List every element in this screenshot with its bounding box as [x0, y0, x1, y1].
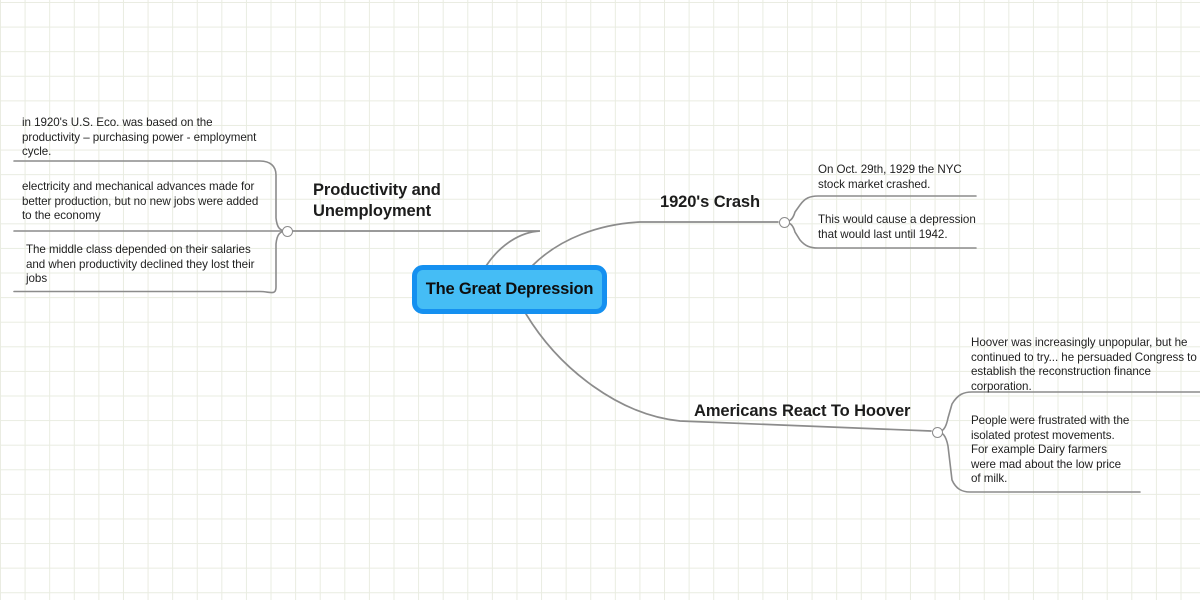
- branch-label-productivity-and-unemployment[interactable]: Productivity and Unemployment: [313, 180, 503, 222]
- branch-label-americans-react-to-hoover[interactable]: Americans React To Hoover: [694, 401, 954, 422]
- connector-dot-productivity[interactable]: [282, 226, 293, 237]
- leaf-middle-class-salaries[interactable]: The middle class depended on their salar…: [26, 243, 276, 287]
- leaf-1920s-eco-cycle[interactable]: in 1920's U.S. Eco. was based on the pro…: [22, 116, 272, 160]
- central-node[interactable]: The Great Depression: [412, 265, 607, 314]
- leaf-depression-until-1942[interactable]: This would cause a depression that would…: [818, 213, 983, 242]
- connector-dot-crash[interactable]: [779, 217, 790, 228]
- central-node-label: The Great Depression: [426, 280, 593, 299]
- leaf-protest-movements[interactable]: People were frustrated with the isolated…: [971, 414, 1200, 487]
- branch-label-1920s-crash[interactable]: 1920's Crash: [660, 192, 840, 213]
- leaf-oct-29-crash[interactable]: On Oct. 29th, 1929 the NYC stock market …: [818, 163, 983, 192]
- leaf-hoover-unpopular[interactable]: Hoover was increasingly unpopular, but h…: [971, 336, 1200, 394]
- leaf-electricity-advances[interactable]: electricity and mechanical advances made…: [22, 180, 272, 224]
- connector-dot-hoover[interactable]: [932, 427, 943, 438]
